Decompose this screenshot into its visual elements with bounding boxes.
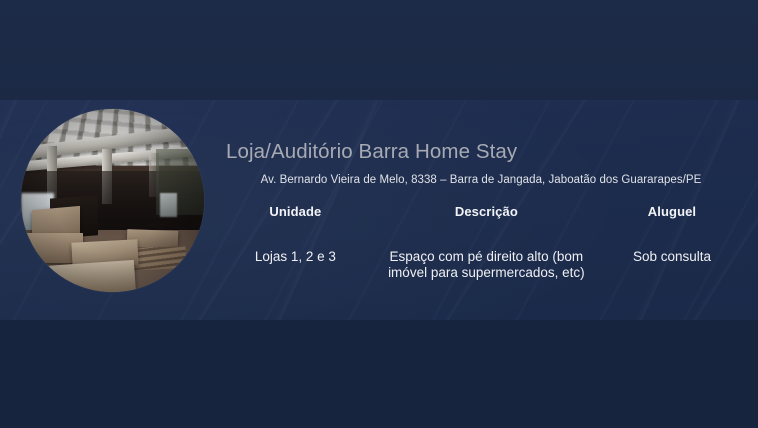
photo-stacked-material xyxy=(42,260,136,292)
cell-aluguel: Sob consulta xyxy=(594,249,750,282)
background-top-block xyxy=(0,0,758,101)
background-bottom-block xyxy=(0,320,758,428)
warehouse-interior-photo xyxy=(21,109,204,292)
photo-door-light xyxy=(160,193,176,217)
listing-address: Av. Bernardo Vieira de Melo, 8338 – Barr… xyxy=(212,174,750,186)
property-photo-circle xyxy=(21,109,204,292)
units-table: Unidade Descrição Aluguel Lojas 1, 2 e 3… xyxy=(212,204,750,282)
listing-title: Loja/Auditório Barra Home Stay xyxy=(226,140,750,165)
column-header-descricao: Descrição xyxy=(379,204,594,249)
column-header-aluguel: Aluguel xyxy=(594,204,750,249)
listing-content: Loja/Auditório Barra Home Stay Av. Berna… xyxy=(212,140,750,282)
column-header-unidade: Unidade xyxy=(212,204,379,249)
table-header-row: Unidade Descrição Aluguel xyxy=(212,204,750,249)
slide-root: Loja/Auditório Barra Home Stay Av. Berna… xyxy=(0,0,758,428)
table-row: Lojas 1, 2 e 3 Espaço com pé direito alt… xyxy=(212,249,750,282)
cell-unidade: Lojas 1, 2 e 3 xyxy=(212,249,379,282)
cell-descricao: Espaço com pé direito alto (bom imóvel p… xyxy=(379,249,594,282)
